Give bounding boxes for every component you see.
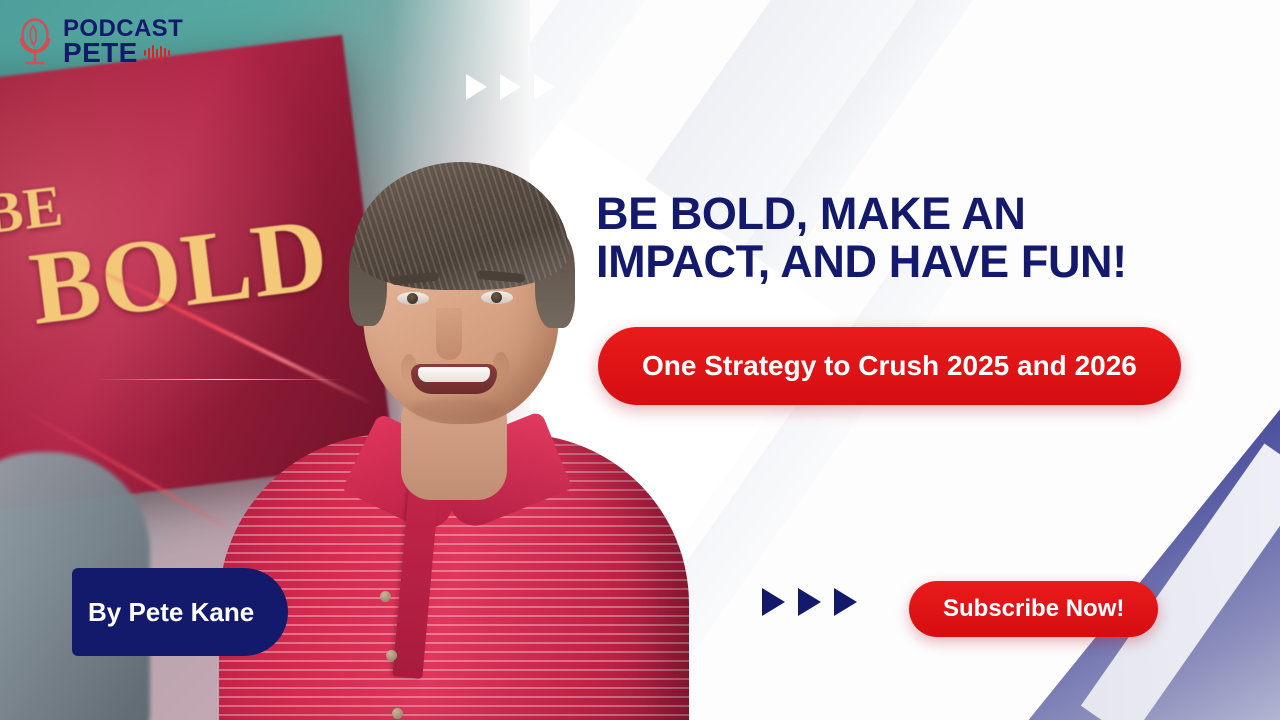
subject-hair (353, 162, 569, 290)
play-triangle-icon (534, 74, 555, 100)
play-triangle-icon (762, 588, 785, 616)
subject-eye-right (481, 291, 513, 304)
subject-mouth (411, 364, 497, 394)
page-title: BE BOLD, MAKE AN IMPACT, AND HAVE FUN! (596, 190, 1256, 285)
play-triangle-icon (500, 74, 521, 100)
play-triangles-top (466, 74, 555, 100)
subject-eye-left (397, 292, 429, 305)
headline-line-1: BE BOLD, MAKE AN (596, 190, 1256, 238)
logo-line-2: PETE (63, 40, 138, 66)
subject-shirt-button (386, 650, 397, 661)
play-triangle-icon (466, 74, 487, 100)
subject-chin-shadow (411, 398, 501, 420)
microphone-icon (16, 18, 54, 66)
subject-iris (491, 292, 502, 303)
subtitle-badge: One Strategy to Crush 2025 and 2026 (598, 327, 1181, 405)
subject-iris (407, 293, 418, 304)
subject-nose (436, 308, 462, 360)
author-byline-badge: By Pete Kane (72, 568, 288, 656)
subject-teeth (418, 367, 490, 382)
logo-wordmark: PODCAST PETE (63, 18, 183, 66)
podcast-pete-logo[interactable]: PODCAST PETE (16, 18, 183, 66)
subject-shirt-button (392, 708, 403, 719)
subscribe-button[interactable]: Subscribe Now! (909, 581, 1158, 637)
subject-shirt-button (380, 591, 391, 602)
play-triangle-icon (834, 588, 857, 616)
play-triangle-icon (798, 588, 821, 616)
logo-line-2-row: PETE (63, 40, 183, 66)
audio-waveform-icon (144, 44, 170, 62)
play-triangles-bottom (762, 588, 857, 616)
video-thumbnail-canvas: BE BOLD (0, 0, 1280, 720)
headline-line-2: IMPACT, AND HAVE FUN! (596, 238, 1256, 286)
